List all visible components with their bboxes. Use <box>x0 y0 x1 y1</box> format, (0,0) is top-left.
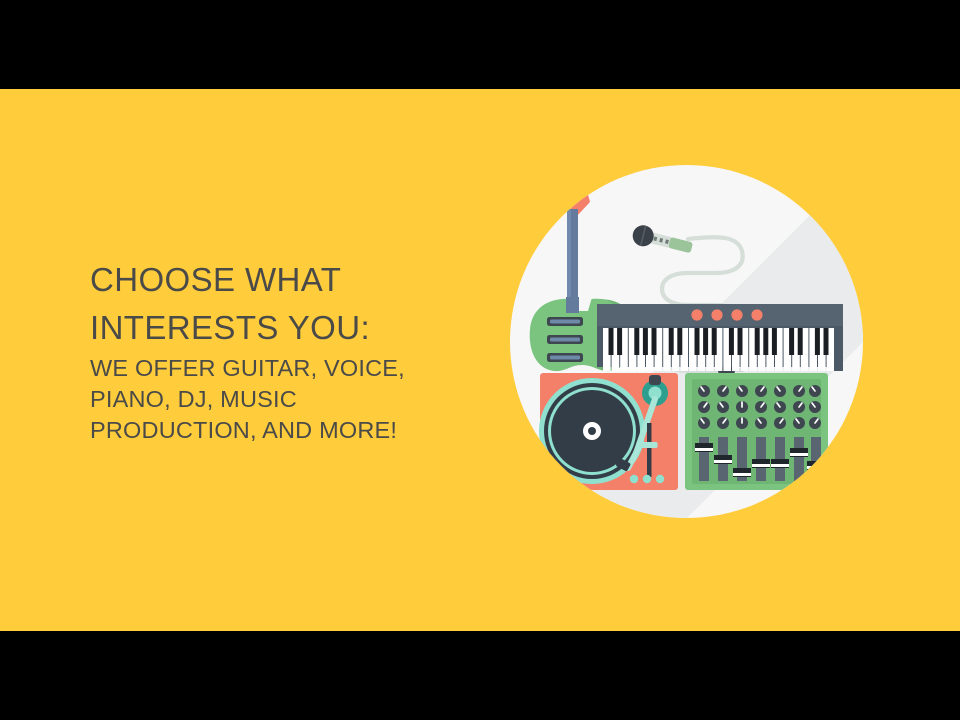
headline-line-1: CHOOSE WHAT <box>90 256 470 304</box>
music-illustration <box>510 165 863 518</box>
audio-mixer-icon <box>685 373 828 490</box>
letterbox-bottom <box>0 631 960 720</box>
slide-root: CHOOSE WHAT INTERESTS YOU: WE OFFER GUIT… <box>0 0 960 720</box>
subline-line-1: WE OFFER GUITAR, VOICE, <box>90 354 470 383</box>
headline-block: CHOOSE WHAT INTERESTS YOU: WE OFFER GUIT… <box>90 256 470 445</box>
subline-line-2: PIANO, DJ, MUSIC <box>90 385 470 414</box>
turntable-icon <box>539 373 678 490</box>
slide-stage: CHOOSE WHAT INTERESTS YOU: WE OFFER GUIT… <box>0 89 960 631</box>
letterbox-top <box>0 0 960 89</box>
keyboard-piano-icon <box>597 304 843 371</box>
subline-line-3: PRODUCTION, AND MORE! <box>90 416 470 445</box>
headline-line-2: INTERESTS YOU: <box>90 304 470 352</box>
